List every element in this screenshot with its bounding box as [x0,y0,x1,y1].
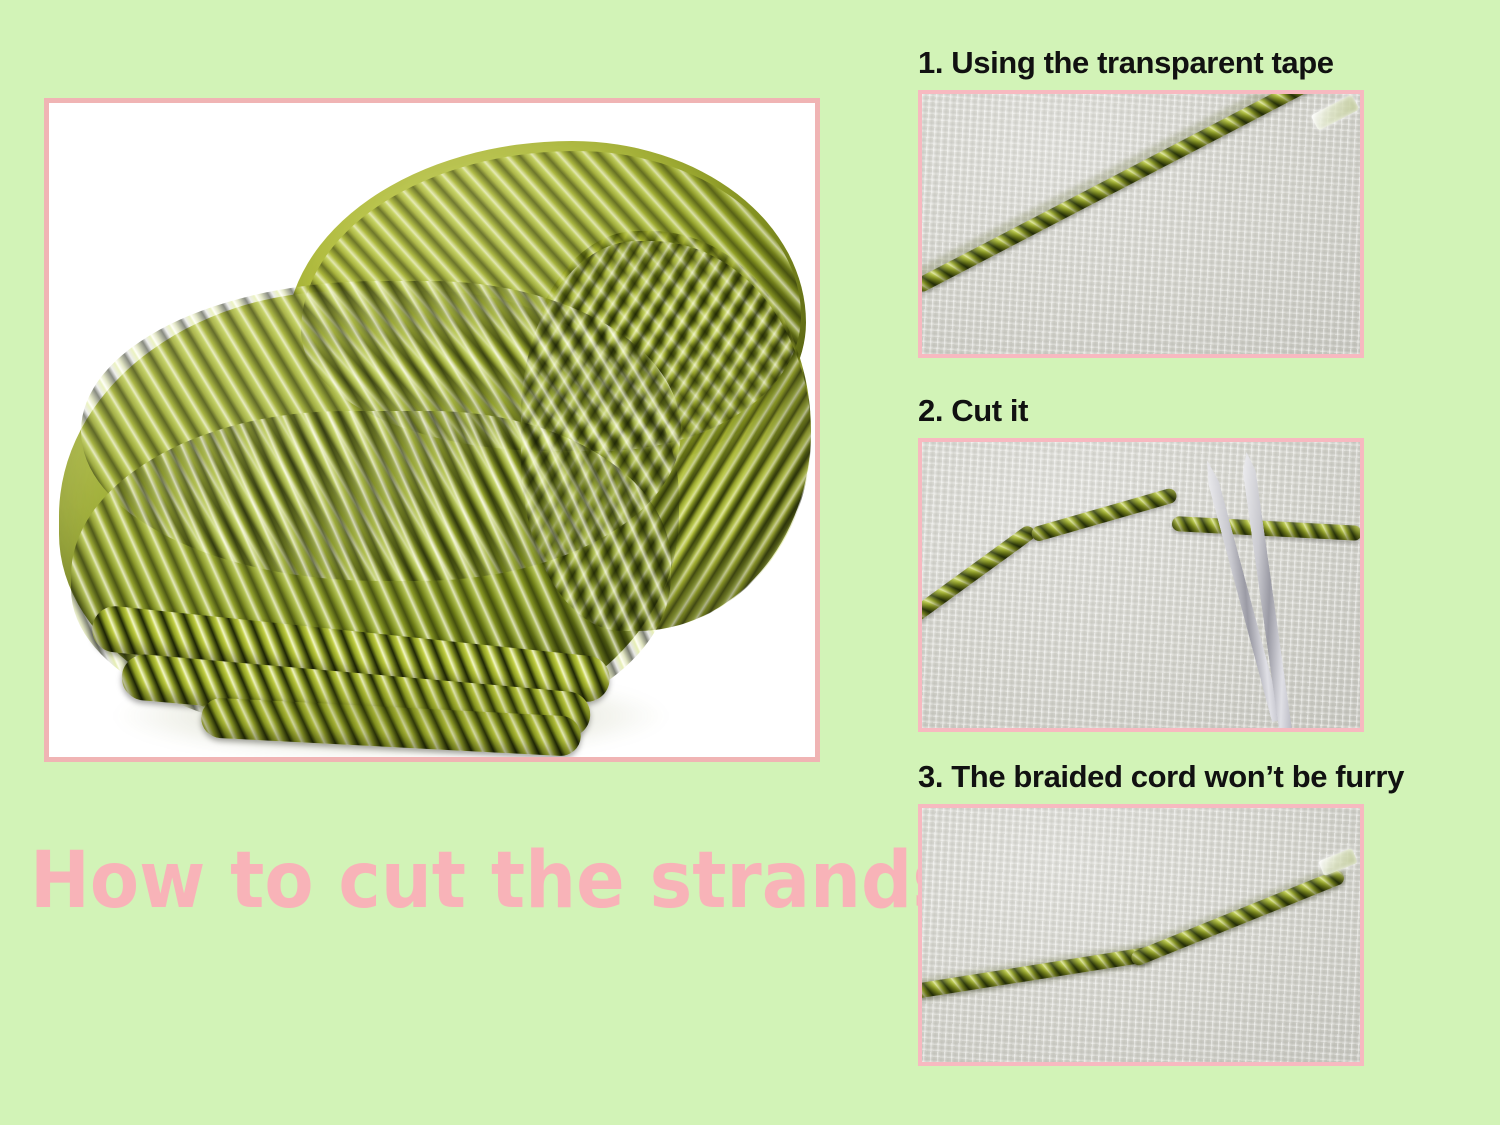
step-2-image-frame [918,438,1364,732]
step-3: 3. The braided cord won’t be furry [918,758,1364,1066]
page-title: How to cut the strands? [30,838,887,924]
step-3-title: 3. The braided cord won’t be furry [918,758,1364,796]
step-1-image-frame [918,90,1364,358]
step-1: 1. Using the transparent tape [918,44,1364,358]
hero-image-frame [44,98,820,762]
rope-soft-shadow [111,671,671,757]
steps-column: 1. Using the transparent tape 2. Cut it … [918,44,1364,1066]
step-2-title: 2. Cut it [918,392,1364,430]
rope-bundle-graphic [51,111,815,757]
wall-texture [922,94,1360,354]
hero-product-photo [49,103,815,757]
step-1-title: 1. Using the transparent tape [918,44,1364,82]
step-2: 2. Cut it [918,392,1364,732]
wall-texture [922,808,1360,1062]
step-3-image-frame [918,804,1364,1066]
wall-texture [922,442,1360,728]
